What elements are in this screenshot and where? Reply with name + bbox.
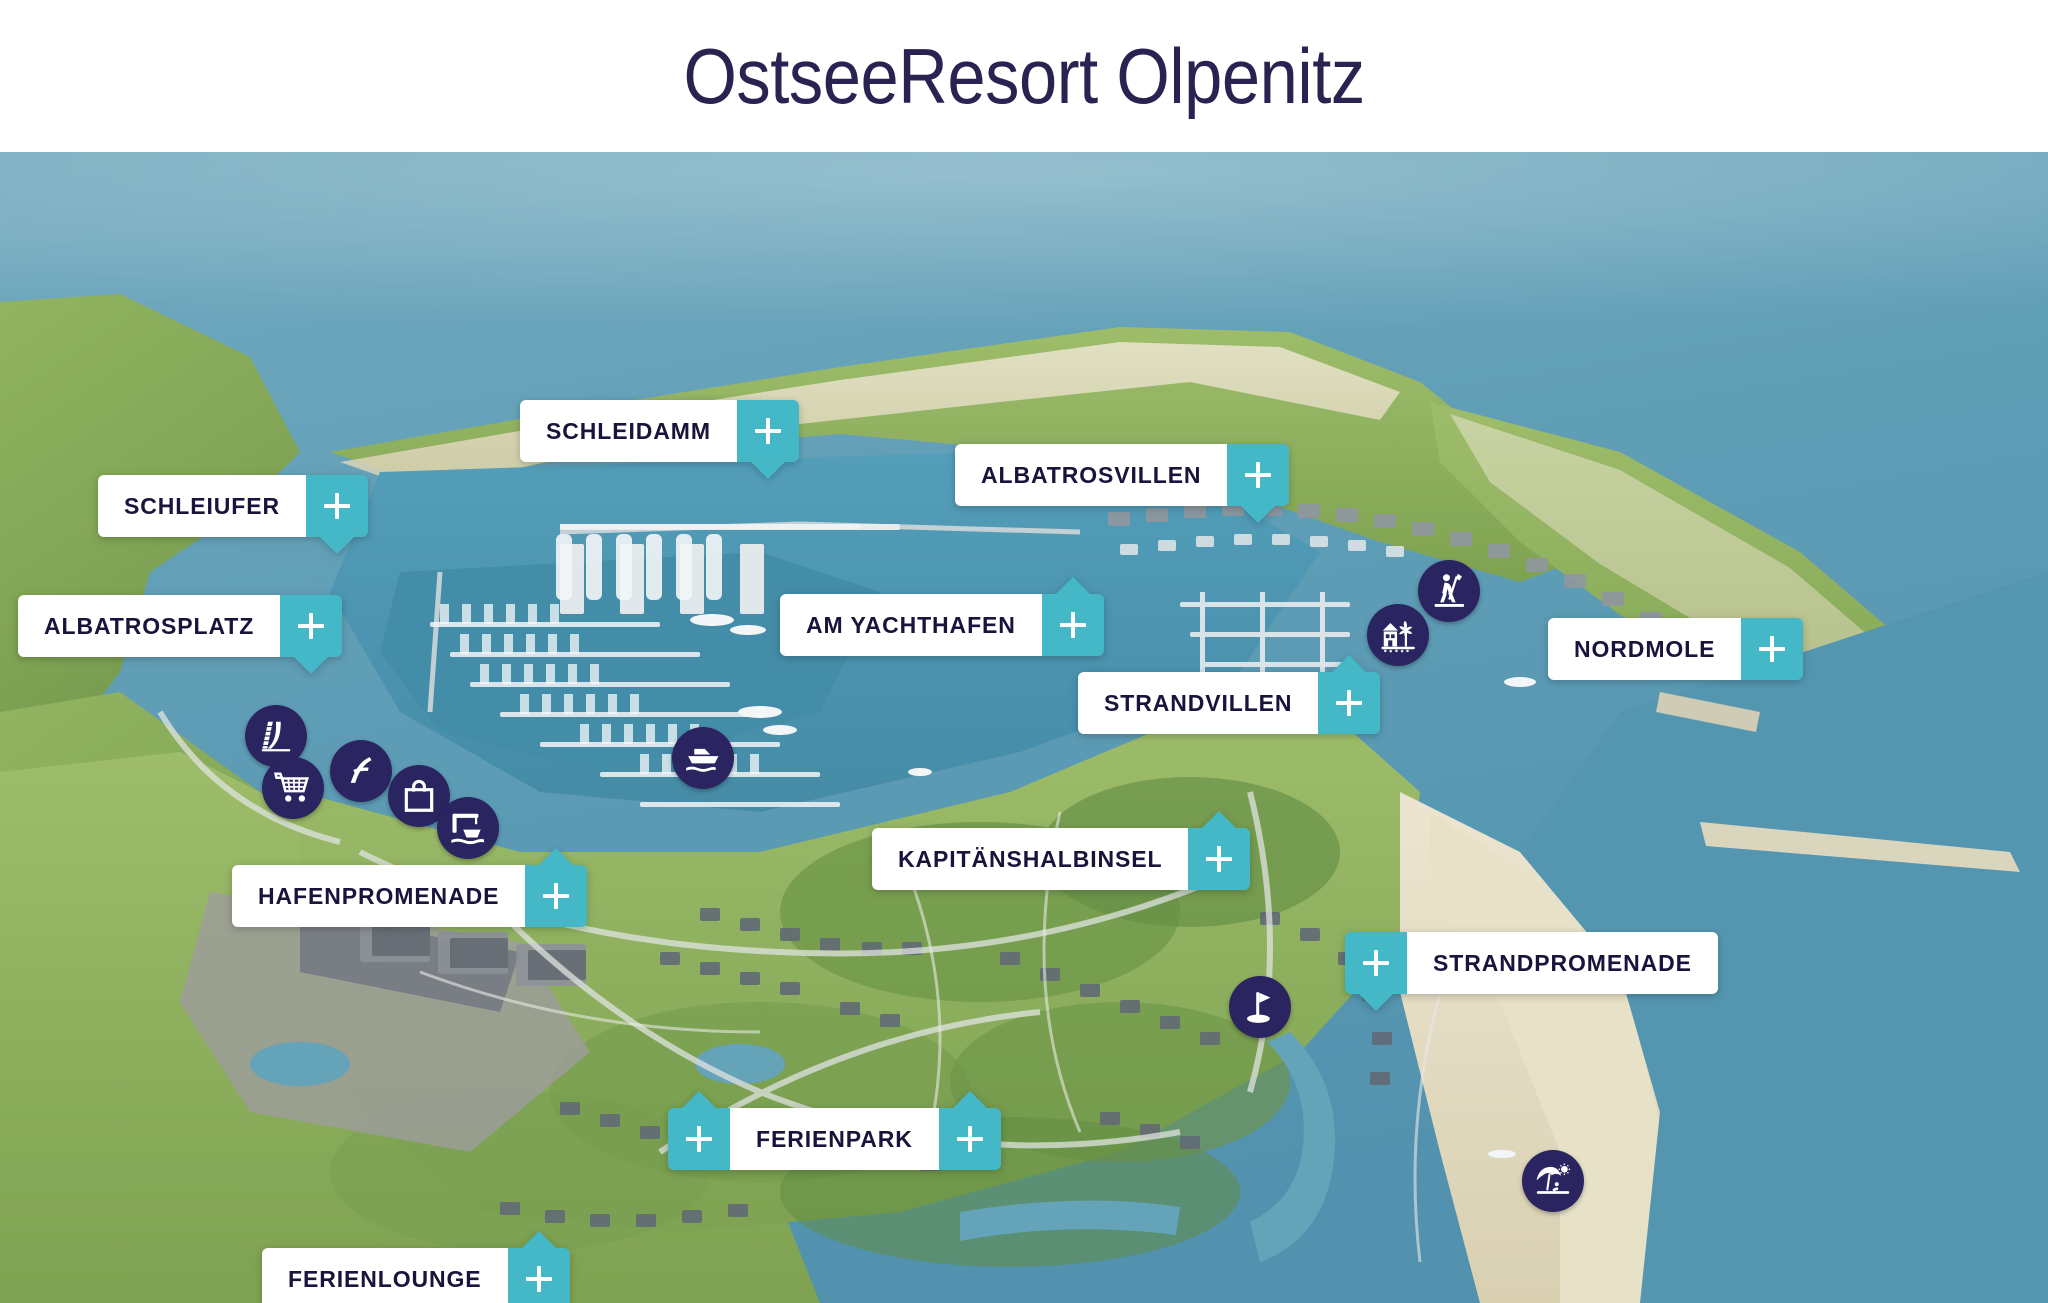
page-title: OstseeResort Olpenitz — [683, 31, 1364, 122]
poi-golf[interactable] — [1229, 976, 1291, 1038]
expand-plus-button[interactable] — [306, 475, 368, 537]
hotspot-label: NORDMOLE — [1574, 636, 1715, 663]
poi-marina-boat[interactable] — [672, 727, 734, 789]
poi-sup[interactable] — [1418, 560, 1480, 622]
expand-plus-button[interactable] — [1188, 828, 1250, 890]
hotspot-label-box: STRANDVILLEN — [1078, 672, 1318, 734]
expand-plus-button[interactable] — [525, 865, 587, 927]
expand-plus-button[interactable] — [508, 1248, 570, 1303]
expand-plus-button[interactable] — [1227, 444, 1289, 506]
hotspot-label-box: ALBATROSPLATZ — [18, 595, 280, 657]
hotspot-label: HAFENPROMENADE — [258, 883, 499, 910]
pointer-nub-up-icon — [1202, 811, 1236, 828]
hotspot-label: STRANDPROMENADE — [1433, 950, 1692, 977]
letter-f-logo-icon — [342, 752, 380, 790]
hotspot-label: FERIENPARK — [756, 1126, 913, 1153]
pointer-nub-down-icon — [1241, 506, 1275, 523]
hotspot-label-box: AM YACHTHAFEN — [780, 594, 1042, 656]
poi-shopping[interactable] — [262, 757, 324, 819]
hotspot-label-box: HAFENPROMENADE — [232, 865, 525, 927]
hotspot-label: AM YACHTHAFEN — [806, 612, 1016, 639]
expand-plus-button-right[interactable] — [939, 1108, 1001, 1170]
pointer-nub-up-icon — [1056, 577, 1090, 594]
hotspot-label-box: STRANDPROMENADE — [1407, 932, 1718, 994]
hotspot-ferienpark[interactable]: FERIENPARK — [668, 1108, 1001, 1170]
hotspot-schleiufer[interactable]: SCHLEIUFER — [98, 475, 368, 537]
hotspot-label-box: FERIENPARK — [730, 1108, 939, 1170]
golf-flag-icon — [1241, 988, 1279, 1026]
hotspot-label: SCHLEIUFER — [124, 493, 280, 520]
hotspot-label: STRANDVILLEN — [1104, 690, 1292, 717]
hotspot-label-box: FERIENLOUNGE — [262, 1248, 508, 1303]
aerial-map-image — [0, 152, 2048, 1303]
boat-crane-icon — [449, 809, 487, 847]
expand-plus-button[interactable] — [737, 400, 799, 462]
expand-plus-button[interactable] — [1741, 618, 1803, 680]
shopping-bag-icon — [400, 777, 438, 815]
hotspot-nordmole[interactable]: NORDMOLE — [1548, 618, 1803, 680]
expand-plus-button[interactable] — [1345, 932, 1407, 994]
beach-building-icon — [1379, 616, 1417, 654]
hotspot-label: SCHLEIDAMM — [546, 418, 711, 445]
motorboat-icon — [684, 739, 722, 777]
paddleboard-icon — [1430, 572, 1468, 610]
water-slide-icon — [257, 717, 295, 755]
page-header: OstseeResort Olpenitz — [0, 0, 2048, 152]
pointer-nub-down-icon — [751, 462, 785, 479]
pointer-nub-up-icon — [1332, 655, 1366, 672]
hotspot-schleidamm[interactable]: SCHLEIDAMM — [520, 400, 799, 462]
poi-slipway[interactable] — [437, 797, 499, 859]
pointer-nub-down-icon — [320, 537, 354, 554]
shopping-cart-icon — [274, 769, 312, 807]
hotspot-albatrosplatz[interactable]: ALBATROSPLATZ — [18, 595, 342, 657]
expand-plus-button[interactable] — [1042, 594, 1104, 656]
pointer-nub-up-icon — [539, 848, 573, 865]
poi-fitness[interactable] — [330, 740, 392, 802]
hotspot-label-box: SCHLEIDAMM — [520, 400, 737, 462]
pointer-nub-down-icon — [1359, 994, 1393, 1011]
pointer-nub-up-icon — [953, 1091, 987, 1108]
pointer-nub-down-icon — [294, 657, 328, 674]
expand-plus-button-left[interactable] — [668, 1108, 730, 1170]
expand-plus-button[interactable] — [1318, 672, 1380, 734]
poi-beach[interactable] — [1522, 1150, 1584, 1212]
hotspot-label-box: KAPITÄNSHALBINSEL — [872, 828, 1188, 890]
hotspot-label-box: SCHLEIUFER — [98, 475, 306, 537]
interactive-resort-map[interactable]: SCHLEIDAMM ALBATROSVILLEN SCHLEIUFER — [0, 152, 2048, 1303]
pointer-nub-up-icon — [682, 1091, 716, 1108]
beach-umbrella-icon — [1534, 1162, 1572, 1200]
hotspot-label: KAPITÄNSHALBINSEL — [898, 846, 1162, 873]
resort-map-page: OstseeResort Olpenitz — [0, 0, 2048, 1303]
poi-beach-house[interactable] — [1367, 604, 1429, 666]
expand-plus-button[interactable] — [280, 595, 342, 657]
pointer-nub-up-icon — [522, 1231, 556, 1248]
hotspot-hafenpromenade[interactable]: HAFENPROMENADE — [232, 865, 587, 927]
hotspot-am-yachthafen[interactable]: AM YACHTHAFEN — [780, 594, 1104, 656]
hotspot-label-box: NORDMOLE — [1548, 618, 1741, 680]
hotspot-label: FERIENLOUNGE — [288, 1266, 482, 1293]
hotspot-label: ALBATROSPLATZ — [44, 613, 254, 640]
hotspot-label: ALBATROSVILLEN — [981, 462, 1201, 489]
hotspot-ferienlounge[interactable]: FERIENLOUNGE — [262, 1248, 570, 1303]
hotspot-albatrosvillen[interactable]: ALBATROSVILLEN — [955, 444, 1289, 506]
hotspot-label-box: ALBATROSVILLEN — [955, 444, 1227, 506]
hotspot-strandvillen[interactable]: STRANDVILLEN — [1078, 672, 1380, 734]
hotspot-strandpromenade[interactable]: STRANDPROMENADE — [1345, 932, 1718, 994]
hotspot-kapitaenshalbinsel[interactable]: KAPITÄNSHALBINSEL — [872, 828, 1250, 890]
